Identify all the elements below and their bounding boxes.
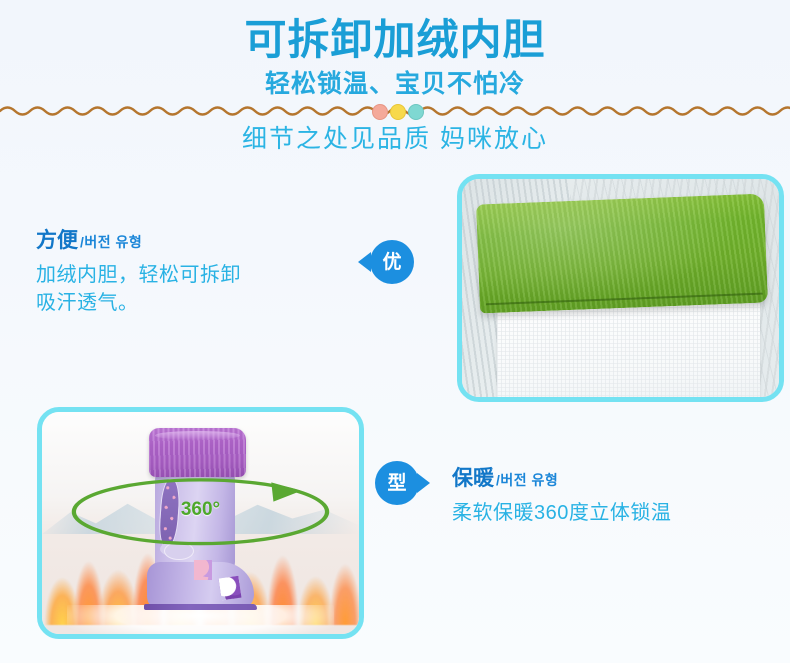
feature-convenience-title: 方便/버전 유형 bbox=[36, 228, 336, 254]
feature-warmth-body-line-1: 柔软保暖360度立体锁温 bbox=[452, 500, 772, 528]
photo-boot-inner: 360° bbox=[42, 412, 359, 634]
boot-fleece-cuff bbox=[149, 428, 246, 477]
badge-you: 优 bbox=[370, 240, 414, 284]
photo-fleece-lining bbox=[457, 174, 784, 402]
feature-warmth-body: 柔软保暖360度立体锁温 bbox=[452, 500, 772, 528]
wavy-divider bbox=[0, 100, 790, 124]
feature-convenience-body-line-1: 加绒内胆，轻松可拆卸 bbox=[36, 262, 336, 290]
boot-sole bbox=[144, 604, 256, 609]
label-360-degrees: 360° bbox=[181, 499, 220, 521]
header: 可拆卸加绒内胆 轻松锁温、宝贝不怕冷 bbox=[0, 0, 790, 99]
green-fleece-band bbox=[476, 193, 768, 313]
page-tagline: 细节之处见品质 妈咪放心 bbox=[0, 124, 790, 154]
badge-you-label: 优 bbox=[370, 240, 414, 284]
feature-convenience: 方便/버전 유형 加绒内胆，轻松可拆卸 吸汗透气。 bbox=[36, 228, 336, 317]
badge-xing-label: 型 bbox=[375, 461, 419, 505]
page-subtitle: 轻松锁温、宝贝不怕冷 bbox=[0, 63, 790, 99]
feature-warmth-title-kr: /버전 유형 bbox=[496, 472, 558, 488]
butterfly-decal-purple bbox=[218, 575, 241, 599]
divider-dot-yellow bbox=[391, 105, 406, 120]
feature-convenience-title-cn: 方便 bbox=[36, 229, 78, 252]
triangle-right-icon bbox=[417, 473, 430, 493]
feature-convenience-title-kr: /버전 유형 bbox=[80, 234, 142, 250]
feature-warmth-title-cn: 保暖 bbox=[452, 467, 494, 490]
photo-boot-360: 360° bbox=[37, 407, 364, 639]
butterfly-decal-pink bbox=[194, 560, 212, 580]
feature-convenience-body-line-2: 吸汗透气。 bbox=[36, 290, 336, 318]
feature-warmth-title: 保暖/버전 유형 bbox=[452, 466, 772, 492]
divider-dot-teal bbox=[409, 105, 424, 120]
photo-fleece-inner bbox=[462, 179, 779, 397]
feature-convenience-body: 加绒内胆，轻松可拆卸 吸汗透气。 bbox=[36, 262, 336, 317]
page-title: 可拆卸加绒内胆 bbox=[0, 0, 790, 63]
feature-warmth: 保暖/버전 유형 柔软保暖360度立体锁温 bbox=[452, 466, 772, 528]
product-detail-page: 可拆卸加绒内胆 轻松锁温、宝贝不怕冷 细节之处见品质 妈咪放心 bbox=[0, 0, 790, 663]
badge-xing: 型 bbox=[375, 461, 419, 505]
divider-dot-pink bbox=[373, 105, 388, 120]
